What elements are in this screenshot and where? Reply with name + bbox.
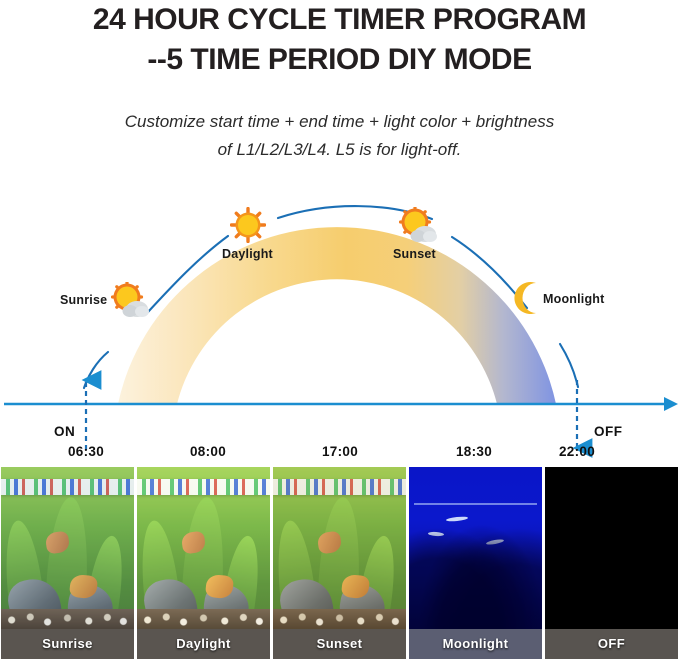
- photo-panel-daylight: Daylight: [137, 467, 270, 659]
- stage-label-daylight: Daylight: [222, 247, 273, 261]
- crescent-moon-icon: [512, 280, 544, 321]
- photo-caption-sunrise: Sunrise: [1, 629, 134, 659]
- stage-label-sunrise: Sunrise: [60, 293, 107, 307]
- time-tick-2: 17:00: [322, 444, 358, 459]
- photo-panel-sunrise: Sunrise: [1, 467, 134, 659]
- daylight-gradient-band: [118, 227, 556, 404]
- photo-caption-off: OFF: [545, 629, 678, 659]
- photo-panel-moonlight: Moonlight: [409, 467, 542, 659]
- diagram-svg: [0, 180, 679, 465]
- subtitle-line-2: of L1/L2/L3/L4. L5 is for light-off.: [0, 141, 679, 158]
- time-tick-3: 18:30: [456, 444, 492, 459]
- aquarium-photo-strip: Sunrise Daylight: [0, 467, 679, 659]
- on-label: ON: [54, 424, 75, 439]
- off-label: OFF: [594, 424, 623, 439]
- sun-behind-cloud-icon: [399, 207, 441, 250]
- infographic-page: 24 HOUR CYCLE TIMER PROGRAM --5 TIME PER…: [0, 0, 679, 659]
- day-cycle-diagram: [0, 180, 679, 465]
- photo-panel-off: OFF: [545, 467, 678, 659]
- photo-caption-sunset: Sunset: [273, 629, 406, 659]
- page-title-line-1: 24 HOUR CYCLE TIMER PROGRAM: [0, 5, 679, 35]
- axis-arrow-head: [664, 397, 678, 411]
- photo-panel-sunset: Sunset: [273, 467, 406, 659]
- subtitle-line-1: Customize start time + end time + light …: [0, 113, 679, 130]
- time-tick-1: 08:00: [190, 444, 226, 459]
- photo-caption-daylight: Daylight: [137, 629, 270, 659]
- photo-caption-moonlight: Moonlight: [409, 629, 542, 659]
- sun-icon: [230, 207, 266, 248]
- page-title-line-2: --5 TIME PERIOD DIY MODE: [0, 45, 679, 75]
- stage-label-moonlight: Moonlight: [543, 292, 605, 306]
- time-tick-4: 22:00: [559, 444, 595, 459]
- time-tick-0: 06:30: [68, 444, 104, 459]
- sun-behind-cloud-icon: [111, 282, 153, 325]
